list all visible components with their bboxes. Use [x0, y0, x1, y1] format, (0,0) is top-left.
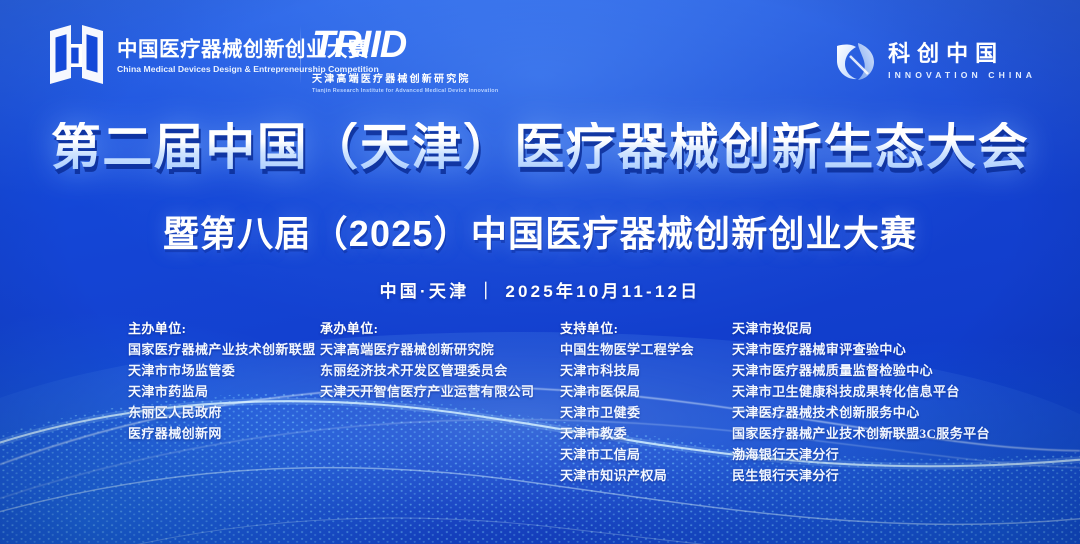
- organizer-item: 国家医疗器械产业技术创新联盟3C服务平台: [732, 423, 990, 444]
- organizer-item: 天津医疗器械技术创新服务中心: [732, 402, 990, 423]
- header-divider: [300, 26, 301, 84]
- organizer-item: 天津市医疗器械审评查验中心: [732, 339, 990, 360]
- organizer-item: 民生银行天津分行: [732, 465, 990, 486]
- logo-triid-wordmark: TRIID: [312, 26, 406, 64]
- logo-innovation-china-cn: 科创中国: [888, 42, 1036, 66]
- open-book-doors-logo-icon: [48, 22, 106, 88]
- organizer-columns: 主办单位: 国家医疗器械产业技术创新联盟 天津市市场监管委 天津市药监局 东丽区…: [0, 318, 1080, 488]
- organizer-item: 天津天开智信医疗产业运营有限公司: [320, 381, 534, 402]
- organizer-item: 天津市药监局: [128, 381, 316, 402]
- organizer-item: 渤海银行天津分行: [732, 444, 990, 465]
- page-subtitle: 暨第八届（2025）中国医疗器械创新创业大赛: [0, 216, 1080, 252]
- organizer-item: 天津市教委: [560, 423, 694, 444]
- innovation-china-swoosh-logo-icon: [834, 40, 878, 82]
- page-title: 第二届中国（天津）医疗器械创新生态大会: [0, 122, 1080, 172]
- organizer-item: 天津市投促局: [732, 318, 990, 339]
- organizer-heading: 支持单位:: [560, 318, 694, 339]
- organizer-item: 医疗器械创新网: [128, 423, 316, 444]
- organizer-item: 东丽区人民政府: [128, 402, 316, 423]
- organizer-item: 天津市医疗器械质量监督检验中心: [732, 360, 990, 381]
- organizer-item: 天津高端医疗器械创新研究院: [320, 339, 534, 360]
- event-location-date: 中国·天津 ｜ 2025年10月11-12日: [0, 277, 1080, 302]
- logo-innovation-china: 科创中国 INNOVATION CHINA: [834, 40, 1036, 82]
- organizer-item: 天津市市场监管委: [128, 360, 316, 381]
- conference-poster: 中国医疗器械创新创业大赛 China Medical Devices Desig…: [0, 0, 1080, 544]
- organizer-item: 天津市科技局: [560, 360, 694, 381]
- logo-triid-en: Tianjin Research Institute for Advanced …: [312, 88, 498, 94]
- logo-innovation-china-en: INNOVATION CHINA: [888, 70, 1036, 80]
- organizer-item: 天津市卫健委: [560, 402, 694, 423]
- organizer-item: 中国生物医学工程学会: [560, 339, 694, 360]
- organizer-item: 国家医疗器械产业技术创新联盟: [128, 339, 316, 360]
- poster-header: 中国医疗器械创新创业大赛 China Medical Devices Desig…: [0, 0, 1080, 112]
- organizer-item: 天津市卫生健康科技成果转化信息平台: [732, 381, 990, 402]
- organizer-item: 天津市知识产权局: [560, 465, 694, 486]
- organizer-column-supporter-continued: 天津市投促局 天津市医疗器械审评查验中心 天津市医疗器械质量监督检验中心 天津市…: [732, 318, 990, 486]
- organizer-item: 天津市工信局: [560, 444, 694, 465]
- organizer-heading: 承办单位:: [320, 318, 534, 339]
- organizer-column-coorganizer: 承办单位: 天津高端医疗器械创新研究院 东丽经济技术开发区管理委员会 天津天开智…: [320, 318, 534, 402]
- organizer-item: 天津市医保局: [560, 381, 694, 402]
- logo-triid-cn: 天津高端医疗器械创新研究院: [312, 70, 471, 85]
- organizer-heading: 主办单位:: [128, 318, 316, 339]
- organizer-column-host: 主办单位: 国家医疗器械产业技术创新联盟 天津市市场监管委 天津市药监局 东丽区…: [128, 318, 316, 444]
- organizer-column-supporter: 支持单位: 中国生物医学工程学会 天津市科技局 天津市医保局 天津市卫健委 天津…: [560, 318, 694, 486]
- organizer-item: 东丽经济技术开发区管理委员会: [320, 360, 534, 381]
- logo-triid: TRIID 天津高端医疗器械创新研究院 Tianjin Research Ins…: [312, 26, 498, 94]
